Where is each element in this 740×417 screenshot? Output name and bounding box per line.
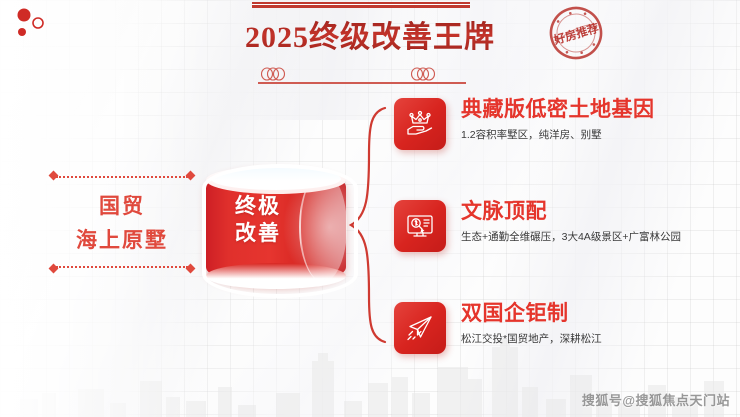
- header-bottom-rule: [258, 82, 466, 84]
- crown-in-hand-icon: [394, 98, 446, 150]
- hub-text: 终极 改善: [206, 194, 310, 248]
- feature-2-title: 文脉顶配: [461, 198, 716, 226]
- cylinder-bottom-ellipse: [206, 263, 346, 289]
- hub-text-line1: 终极: [206, 194, 310, 221]
- triple-ring-ornament-right: [408, 67, 438, 81]
- feature-3-subtitle: 松江交投*国贸地产，深耕松江: [461, 332, 716, 346]
- header: 2025终级改善王牌: [0, 0, 740, 92]
- curly-brace-connector: [345, 104, 389, 346]
- page-title: 2025终级改善王牌: [0, 12, 740, 56]
- cylinder-top-inner: [211, 168, 341, 190]
- triple-ring-ornament-left: [258, 67, 288, 81]
- project-name-line2: 海上原墅: [76, 224, 168, 254]
- cylinder-top-ellipse: [206, 166, 346, 194]
- header-top-rule: [252, 2, 470, 8]
- feature-3-title: 双国企钜制: [461, 300, 716, 328]
- feature-2-body: 文脉顶配 生态+通勤全维碾压，3大4A级景区+广富林公园: [461, 198, 716, 245]
- monitor-search-icon: [394, 200, 446, 252]
- feature-1-subtitle: 1.2容积率墅区，纯洋房、别墅: [461, 128, 716, 142]
- feature-1-body: 典藏版低密土地基因 1.2容积率墅区，纯洋房、别墅: [461, 96, 716, 143]
- project-name-line1: 国贸: [99, 190, 145, 220]
- feature-row-2: 文脉顶配 生态+通勤全维碾压，3大4A级景区+广富林公园: [394, 200, 714, 258]
- watermark: 搜狐号@搜狐焦点天门站: [582, 390, 730, 409]
- central-hub-cylinder: 终极 改善: [206, 168, 346, 286]
- feature-3-body: 双国企钜制 松江交投*国贸地产，深耕松江: [461, 300, 716, 347]
- recommended-stamp-seal: 好房推荐: [533, 2, 619, 64]
- paper-plane-glyph: [404, 312, 436, 344]
- feature-2-subtitle: 生态+通勤全维碾压，3大4A级景区+广富林公园: [461, 230, 716, 244]
- feature-row-3: 双国企钜制 松江交投*国贸地产，深耕松江: [394, 302, 714, 360]
- hub-text-line2: 改善: [206, 221, 310, 248]
- poster-canvas: 2025终级改善王牌: [0, 0, 740, 417]
- project-name-label: 国贸 海上原墅: [46, 176, 198, 268]
- project-name-text: 国贸 海上原墅: [46, 176, 198, 268]
- monitor-search-glyph: [404, 210, 436, 242]
- crown-in-hand-glyph: [404, 108, 436, 140]
- decorative-dots: [14, 6, 54, 42]
- feature-1-title: 典藏版低密土地基因: [461, 96, 716, 124]
- feature-row-1: 典藏版低密土地基因 1.2容积率墅区，纯洋房、别墅: [394, 98, 714, 156]
- paper-plane-icon: [394, 302, 446, 354]
